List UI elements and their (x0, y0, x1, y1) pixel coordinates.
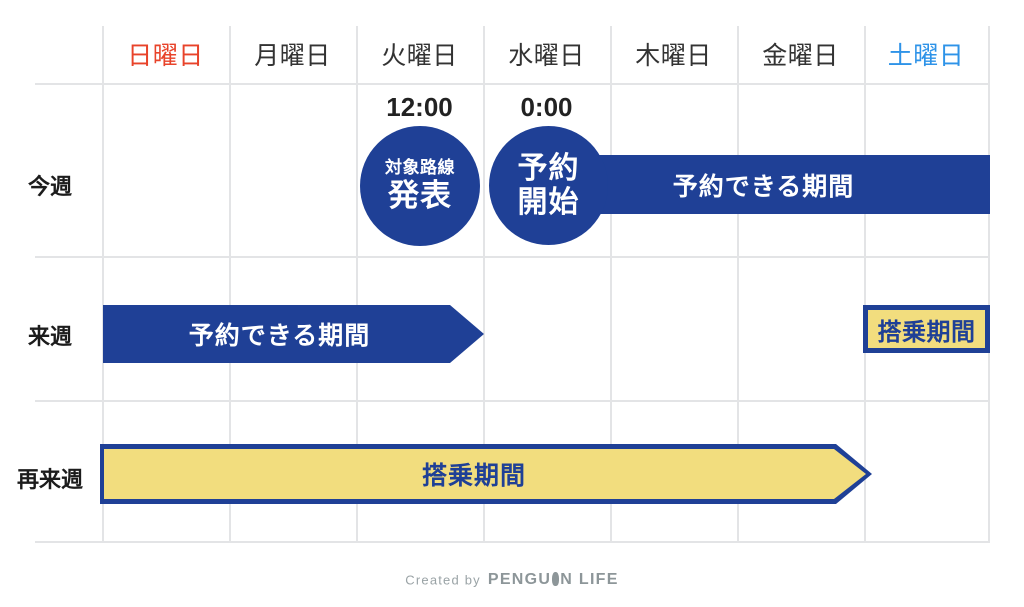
day-header-saturday: 土曜日 (864, 36, 988, 76)
arrow-label: 予約できる期間 (189, 316, 371, 352)
circle-route-announcement: 対象路線 発表 (360, 126, 480, 246)
bar-label: 予約できる期間 (673, 167, 855, 203)
circle-subtitle: 対象路線 (385, 159, 455, 178)
gridline-horizontal (35, 400, 990, 402)
row-label-week-after-next: 再来週 (0, 462, 100, 494)
circle-title-line2: 開始 (518, 186, 580, 220)
gridline-horizontal (35, 541, 990, 543)
day-header-tuesday: 火曜日 (356, 36, 483, 76)
gridline-vertical (864, 26, 866, 543)
day-header-thursday: 木曜日 (610, 36, 737, 76)
arrow-label: 搭乗期間 (422, 456, 526, 492)
time-label-tuesday: 12:00 (356, 90, 483, 124)
circle-title: 発表 (388, 178, 452, 214)
gridline-vertical (988, 26, 990, 543)
arrow-reservation-period-week2: 予約できる期間 (103, 305, 484, 363)
footer-credit: Created byPENGUN LIFE (0, 571, 1024, 589)
penguin-icon (552, 572, 559, 586)
day-header-sunday: 日曜日 (102, 36, 229, 76)
circle-reservation-start: 予約 開始 (489, 126, 608, 245)
credit-created-by: Created by (405, 573, 481, 588)
credit-brand-part2: N LIFE (560, 571, 618, 588)
day-header-friday: 金曜日 (737, 36, 864, 76)
row-label-this-week: 今週 (0, 169, 100, 201)
badge-boarding-period-week2: 搭乗期間 (863, 305, 990, 353)
time-label-wednesday: 0:00 (483, 90, 610, 124)
arrow-boarding-period-week3: 搭乗期間 (100, 444, 872, 504)
circle-title-line1: 予約 (518, 152, 580, 186)
schedule-calendar: 日曜日 月曜日 火曜日 水曜日 木曜日 金曜日 土曜日 今週 来週 再来週 12… (0, 0, 1024, 607)
gridline-horizontal (35, 256, 990, 258)
badge-label: 搭乗期間 (878, 312, 976, 347)
day-header-wednesday: 水曜日 (483, 36, 610, 76)
day-header-monday: 月曜日 (229, 36, 356, 76)
row-label-next-week: 来週 (0, 319, 100, 351)
gridline-horizontal (35, 83, 990, 85)
credit-brand-part1: PENGU (488, 571, 551, 588)
